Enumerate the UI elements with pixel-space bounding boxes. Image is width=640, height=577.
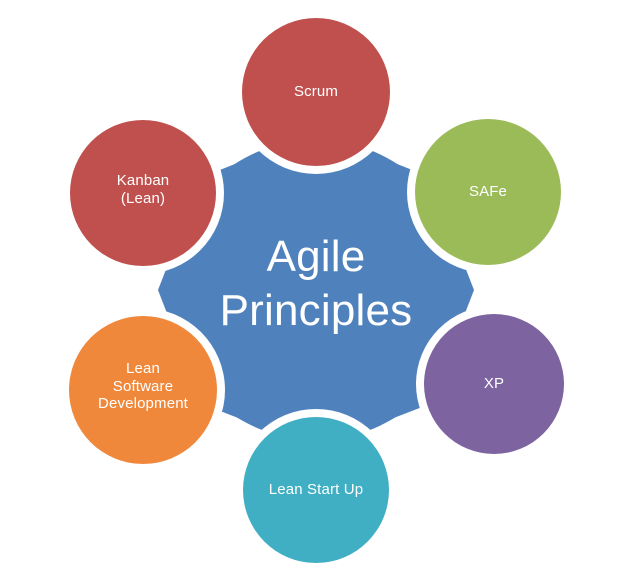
- circle-lean-start-up[interactable]: [243, 417, 389, 563]
- circle-xp[interactable]: [424, 314, 564, 454]
- diagram-svg: [0, 0, 640, 577]
- circle-kanban-lean[interactable]: [70, 120, 216, 266]
- diagram-canvas: Agile Principles Scrum SAFe XP Lean Star…: [0, 0, 640, 577]
- circle-scrum[interactable]: [242, 18, 390, 166]
- circle-safe[interactable]: [415, 119, 561, 265]
- circle-lean-software-development[interactable]: [69, 316, 217, 464]
